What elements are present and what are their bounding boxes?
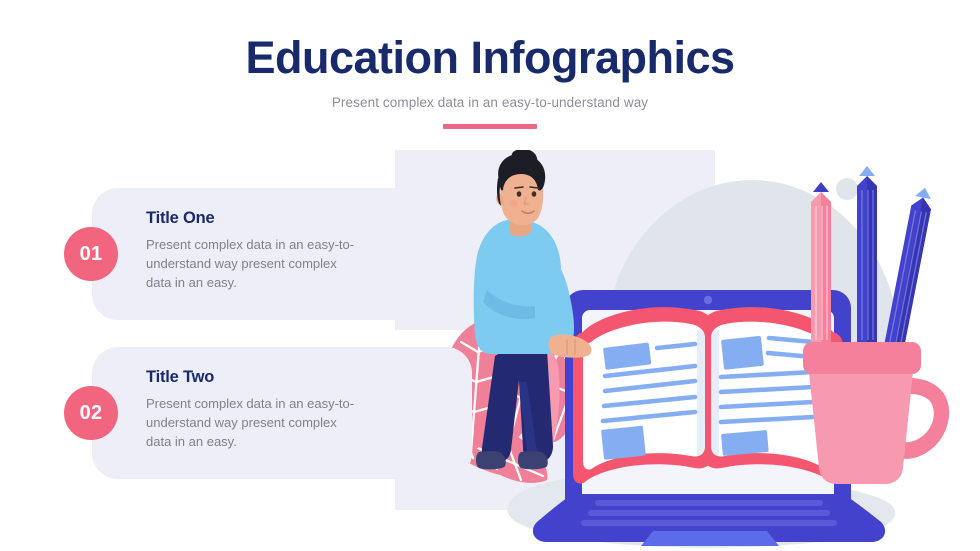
small-dot [836, 178, 858, 200]
info-card-one[interactable]: Title One Present complex data in an eas… [92, 188, 472, 320]
pencil-pink [811, 182, 831, 346]
info-card-two-body: Title Two Present complex data in an eas… [146, 368, 448, 452]
pencil-mug [803, 166, 949, 484]
info-card-two-number-badge: 02 [64, 386, 118, 440]
title-divider [443, 124, 537, 129]
info-card-one-number-badge: 01 [64, 227, 118, 281]
pencil-blue-2 [884, 186, 935, 351]
info-card-two-title: Title Two [146, 368, 448, 387]
education-illustration [395, 150, 980, 551]
info-card-one-body: Title One Present complex data in an eas… [146, 209, 448, 293]
info-card-two-text: Present complex data in an easy-to-under… [146, 395, 358, 452]
page-subtitle: Present complex data in an easy-to-under… [0, 95, 980, 110]
pencil-blue-1 [857, 166, 877, 346]
open-book [573, 307, 843, 483]
info-card-two[interactable]: Title Two Present complex data in an eas… [92, 347, 472, 479]
info-card-one-title: Title One [146, 209, 448, 228]
page-title: Education Infographics [0, 34, 980, 81]
info-card-one-text: Present complex data in an easy-to-under… [146, 236, 358, 293]
slide-header: Education Infographics Present complex d… [0, 34, 980, 129]
infographic-slide: Education Infographics Present complex d… [0, 0, 980, 551]
